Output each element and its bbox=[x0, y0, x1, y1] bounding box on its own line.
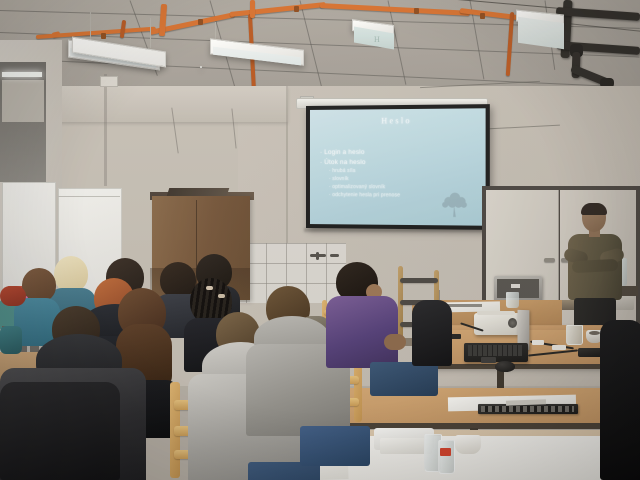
torso bbox=[326, 296, 398, 368]
lamp-reflection: H bbox=[374, 35, 384, 45]
slide-bullet-list: · Login a heslo · Útok na heslo · hrubá … bbox=[320, 148, 400, 200]
slide-bullet: · Útok na heslo bbox=[320, 157, 400, 167]
cabinet-shelf bbox=[167, 188, 230, 196]
faucet-secondary bbox=[330, 254, 339, 257]
presenter-hair bbox=[581, 203, 607, 215]
conduit-clamp bbox=[480, 13, 485, 19]
computer-mouse[interactable] bbox=[495, 361, 515, 372]
wall-opening-interior bbox=[2, 80, 44, 122]
projected-slide: Heslo · Login a heslo · Útok na heslo · … bbox=[310, 108, 486, 225]
tree-silhouette-icon bbox=[436, 191, 472, 218]
patch-panel-ports[interactable] bbox=[481, 406, 574, 412]
laptop-trackpad[interactable] bbox=[481, 357, 496, 363]
coffee-cup-interior bbox=[589, 331, 600, 335]
slide-subbullet: · odchytenie hesla pri prenose bbox=[329, 191, 400, 199]
bottle-cap bbox=[440, 448, 451, 456]
hair-bead bbox=[206, 286, 213, 290]
wall-edge bbox=[104, 74, 107, 186]
torso bbox=[600, 320, 640, 480]
presenter bbox=[560, 204, 630, 334]
bag-teal bbox=[0, 326, 22, 354]
slide-subbullet: · hrubá síla bbox=[329, 167, 400, 175]
conduit-drop bbox=[250, 0, 255, 18]
bag-red bbox=[0, 286, 26, 306]
slide-bullet: · Login a heslo bbox=[320, 148, 400, 158]
laptop-keyboard[interactable] bbox=[468, 345, 522, 356]
wall-corner bbox=[286, 86, 288, 256]
power-adapter bbox=[532, 340, 544, 345]
torso bbox=[412, 300, 452, 366]
slide-title: Heslo bbox=[310, 115, 486, 125]
projection-screen[interactable]: Heslo · Login a heslo · Útok na heslo · … bbox=[306, 104, 490, 230]
jeans bbox=[370, 362, 438, 396]
jeans bbox=[300, 426, 370, 466]
pen bbox=[448, 304, 482, 307]
door-handle-left[interactable] bbox=[544, 258, 555, 262]
presenter-crossed-arms bbox=[572, 259, 619, 273]
plastic-cup[interactable] bbox=[455, 435, 481, 454]
spacer bbox=[200, 66, 202, 68]
lamp-stem bbox=[150, 28, 151, 48]
conduit-clamp bbox=[198, 19, 203, 25]
conduit-clamp bbox=[101, 33, 106, 39]
wall-fixture bbox=[100, 76, 118, 87]
faucet-handle bbox=[316, 252, 319, 260]
glass-beaker bbox=[506, 292, 519, 308]
strip-light bbox=[2, 72, 42, 77]
conduit-clamp bbox=[294, 6, 299, 12]
slide-subbullet: · slovník bbox=[329, 175, 400, 183]
hair bbox=[54, 256, 88, 292]
photograph-classroom-lecture: H Heslo · Login a heslo bbox=[0, 0, 640, 480]
power-adapter bbox=[552, 345, 566, 350]
projector-lens bbox=[508, 318, 517, 328]
arm bbox=[384, 334, 406, 350]
conduit-clamp bbox=[414, 8, 419, 14]
slide-subbullet: · optimalizovaný slovník bbox=[329, 183, 400, 191]
glass-beaker bbox=[566, 325, 583, 345]
laptop-label bbox=[511, 284, 520, 288]
projector-top bbox=[477, 311, 515, 315]
whiteboard-tray bbox=[58, 196, 120, 197]
hair-bead bbox=[218, 294, 225, 298]
presenter-desk-edge bbox=[428, 364, 608, 369]
water-bottle[interactable] bbox=[438, 440, 455, 474]
torso-lower bbox=[0, 382, 120, 480]
